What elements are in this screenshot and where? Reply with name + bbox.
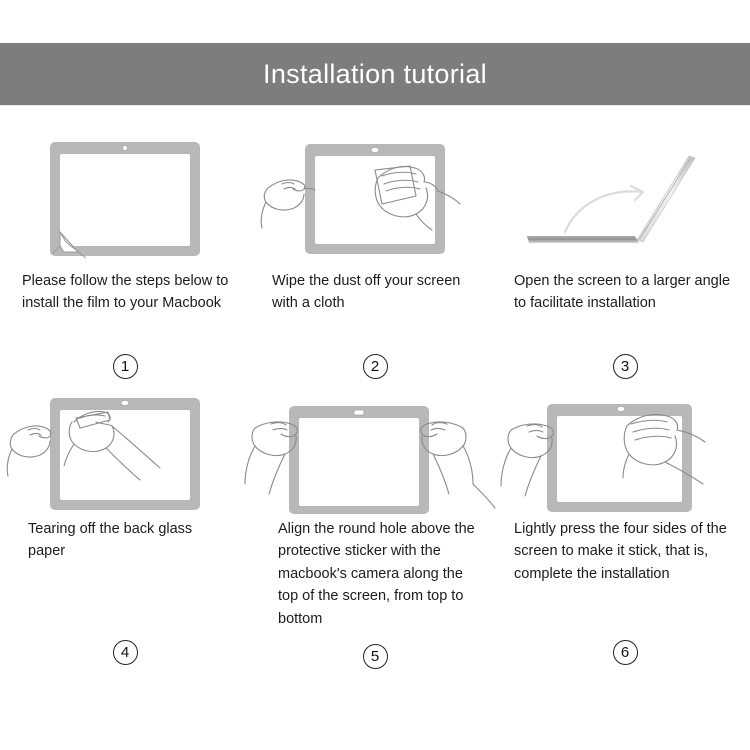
step-card-5: Align the round hole above the protectiv… [250,386,500,676]
step-2-number-wrap: 2 [250,346,500,386]
step-number-badge: 6 [613,640,638,665]
step-4-number-wrap: 4 [0,632,250,672]
step-5-illustration [250,386,500,518]
step-1-illustration [0,130,250,270]
step-1-caption: Please follow the steps below to install… [0,270,250,340]
step-number-badge: 4 [113,640,138,665]
step-2-illustration [250,130,500,270]
step-4-caption: Tearing off the back glass paper [0,518,250,626]
step-5-number-wrap: 5 [250,636,500,676]
step-3-illustration [500,130,750,270]
two-hands-aligning-film-icon [251,388,499,516]
step-card-4: Tearing off the back glass paper 4 [0,386,250,676]
step-number-badge: 1 [113,354,138,379]
step-number-badge: 5 [363,644,388,669]
step-2-caption: Wipe the dust off your screen with a clo… [250,270,500,340]
page-title: Installation tutorial [263,61,487,88]
step-1-number-wrap: 1 [0,346,250,386]
hand-pressing-screen-edges-icon [505,388,745,516]
step-card-1: Please follow the steps below to install… [0,130,250,386]
step-card-3: Open the screen to a larger angle to fac… [500,130,750,386]
laptop-screen-peeling-corner-icon [40,136,210,264]
laptop-opening-angle-arrow-icon [515,136,735,264]
hands-wiping-screen-with-cloth-icon [260,136,490,264]
step-card-6: Lightly press the four sides of the scre… [500,386,750,676]
step-3-caption: Open the screen to a larger angle to fac… [500,270,750,340]
step-number-badge: 2 [363,354,388,379]
step-6-caption: Lightly press the four sides of the scre… [500,518,750,626]
header-banner: Installation tutorial [0,43,750,105]
step-5-caption: Align the round hole above the protectiv… [250,518,500,630]
hands-tearing-back-paper-icon [10,388,240,516]
step-number-badge: 3 [613,354,638,379]
steps-grid: Please follow the steps below to install… [0,130,750,676]
step-6-number-wrap: 6 [500,632,750,672]
step-6-illustration [500,386,750,518]
step-3-number-wrap: 3 [500,346,750,386]
step-4-illustration [0,386,250,518]
step-card-2: Wipe the dust off your screen with a clo… [250,130,500,386]
